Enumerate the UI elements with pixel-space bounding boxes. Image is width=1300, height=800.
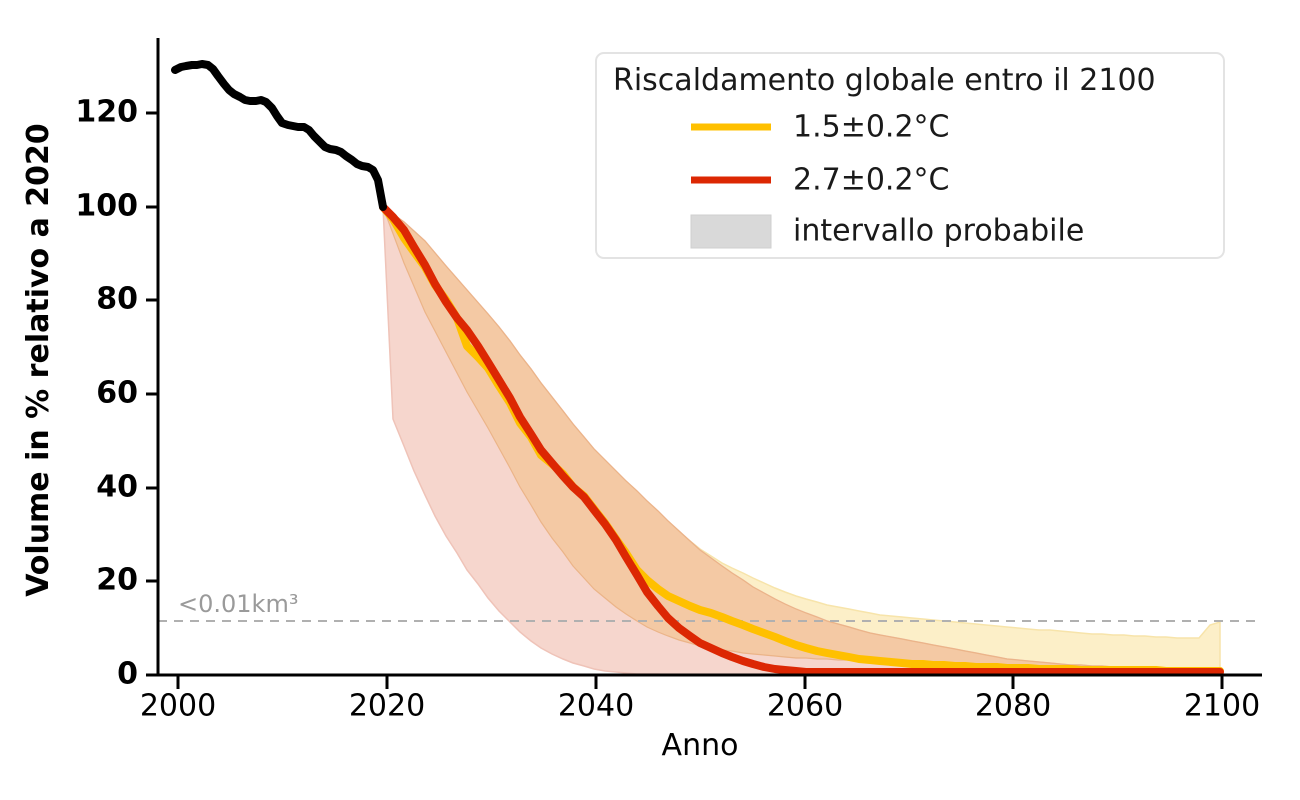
x-tick-label-2080: 2080 bbox=[975, 689, 1051, 724]
x-tick-label-2040: 2040 bbox=[558, 689, 634, 724]
x-axis-label: Anno bbox=[662, 728, 739, 763]
legend-label-2-7c: 2.7±0.2°C bbox=[793, 163, 950, 198]
threshold-label: <0.01km³ bbox=[178, 590, 298, 618]
chart-canvas: <0.01km³ 0 20 40 60 80 100 120 bbox=[0, 0, 1300, 800]
y-tick-label-20: 20 bbox=[96, 563, 138, 598]
y-tick-label-80: 80 bbox=[96, 282, 138, 317]
legend-label-interval: intervallo probabile bbox=[793, 214, 1084, 249]
y-axis-label: Volume in % relativo a 2020 bbox=[21, 123, 56, 597]
chart-figure: <0.01km³ 0 20 40 60 80 100 120 bbox=[0, 0, 1300, 800]
y-tick-label-60: 60 bbox=[96, 376, 138, 411]
legend-swatch-interval bbox=[691, 215, 771, 248]
y-tick-label-40: 40 bbox=[96, 470, 138, 505]
x-tick-label-2000: 2000 bbox=[140, 689, 216, 724]
y-axis-ticks: 0 20 40 60 80 100 120 bbox=[75, 95, 158, 692]
x-axis-ticks: 2000 2020 2040 2060 2080 2100 bbox=[140, 675, 1260, 724]
x-tick-label-2020: 2020 bbox=[349, 689, 425, 724]
y-tick-label-100: 100 bbox=[75, 189, 138, 224]
y-tick-label-0: 0 bbox=[117, 657, 138, 692]
legend-title: Riscaldamento globale entro il 2100 bbox=[613, 63, 1156, 98]
x-tick-label-2100: 2100 bbox=[1184, 689, 1260, 724]
x-tick-label-2060: 2060 bbox=[767, 689, 843, 724]
y-tick-label-120: 120 bbox=[75, 95, 138, 130]
legend-label-1-5c: 1.5±0.2°C bbox=[793, 110, 950, 145]
chart-legend: Riscaldamento globale entro il 2100 1.5±… bbox=[596, 53, 1224, 258]
